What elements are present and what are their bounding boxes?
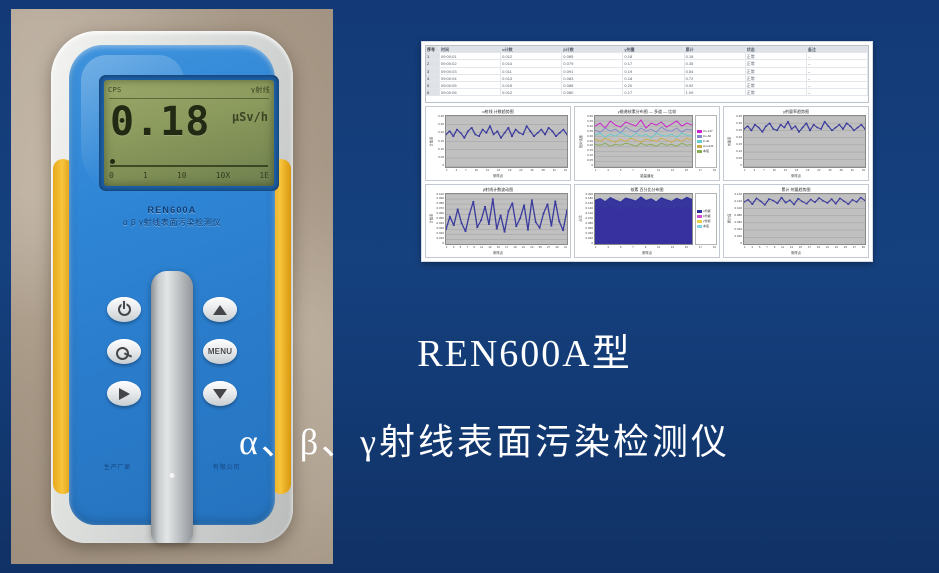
- table-cell: 0.012: [501, 53, 562, 59]
- table-cell: 09:00:05: [440, 82, 501, 88]
- chart-x-axis-label: 采样点: [428, 174, 568, 179]
- lcd-bezel: CPS γ射线 0.18 µSv/h 011010X1E: [99, 75, 279, 191]
- table-cell: 6: [426, 89, 440, 95]
- power-icon: [118, 303, 131, 316]
- chart-y-tick: 0.15: [736, 143, 742, 146]
- lcd-status-left: CPS: [108, 86, 122, 94]
- chart-x-axis-label: 采样点: [726, 174, 866, 179]
- table-cell: --: [807, 82, 868, 88]
- table-row[interactable]: 309:00:030.0110.0910.190.54正常--: [426, 68, 868, 75]
- chart-y-tick: 0.050: [436, 217, 444, 220]
- chart-y-tick: 0: [740, 164, 742, 167]
- chart-legend-swatch: [697, 220, 702, 223]
- chart-legend-label: Co-60: [703, 134, 711, 138]
- table-header-cell: γ剂量: [623, 46, 684, 52]
- chart-legend-swatch: [697, 210, 702, 213]
- chart-y-ticks: 0.1000.0900.0800.0700.0600.0500.0400.030…: [434, 193, 445, 246]
- chart-legend-item: 本底: [697, 149, 715, 153]
- chart-y-tick: 0.35: [736, 115, 742, 118]
- chart-y-tick: 0.090: [436, 197, 444, 200]
- lcd-scale-tick: 10X: [216, 171, 230, 184]
- chart-y-axis-label-text: 相对强度: [578, 135, 583, 148]
- table-cell: --: [807, 89, 868, 95]
- chart-card[interactable]: 累计 剂量趋势图累计值0.1400.1200.1000.0800.0600.04…: [723, 184, 869, 259]
- table-cell: 0.17: [623, 60, 684, 66]
- table-cell: 正常: [746, 68, 807, 74]
- table-cell: 0.54: [685, 68, 746, 74]
- table-cell: 0.72: [685, 75, 746, 81]
- power-button[interactable]: [107, 297, 141, 322]
- chart-y-tick: 0.45: [587, 120, 593, 123]
- chart-y-tick: 0.15: [438, 140, 444, 143]
- table-header-cell: α计数: [501, 46, 562, 52]
- chart-legend-label: α份额: [703, 209, 711, 213]
- table-cell: 0.012: [501, 89, 562, 95]
- chart-body: 相对强度0.500.450.400.350.300.250.200.150.10…: [577, 115, 717, 168]
- chart-y-tick: 0.25: [587, 140, 593, 143]
- chart-y-tick: 0.140: [585, 207, 593, 210]
- lcd-screen: CPS γ射线 0.18 µSv/h 011010X1E: [104, 80, 274, 186]
- table-cell: 0.085: [562, 53, 623, 59]
- chart-legend-swatch: [697, 215, 702, 218]
- chart-y-tick: 0.100: [734, 207, 742, 210]
- table-header-cell: β计数: [562, 46, 623, 52]
- chart-legend-swatch: [697, 150, 702, 153]
- table-cell: 0.088: [562, 82, 623, 88]
- table-cell: 09:00:01: [440, 53, 501, 59]
- table-cell: 0.18: [623, 53, 684, 59]
- software-screenshot: 序号时间α计数β计数γ剂量累计状态备注109:00:010.0120.0850.…: [421, 41, 873, 262]
- table-cell: 09:00:06: [440, 89, 501, 95]
- chart-y-tick: 0.10: [587, 154, 593, 157]
- chart-plot-area: [743, 115, 866, 168]
- chart-body: 累计值0.1400.1200.1000.0800.0600.0400.0200: [726, 193, 866, 246]
- table-cell: 0.015: [501, 82, 562, 88]
- table-cell: --: [807, 68, 868, 74]
- chart-legend-label: Am-241: [703, 144, 714, 148]
- chart-legend-swatch: [697, 145, 702, 148]
- table-cell: 0.080: [562, 89, 623, 95]
- table-cell: 0.35: [685, 60, 746, 66]
- lcd-scale-tick: 1E: [259, 171, 269, 184]
- chart-legend: Cs-137Co-60K-40Am-241本底: [695, 115, 717, 168]
- table-cell: 正常: [746, 53, 807, 59]
- presentation-slide: CPS γ射线 0.18 µSv/h 011010X1E REN600A α β…: [0, 0, 939, 573]
- chart-y-tick: 0.080: [436, 202, 444, 205]
- table-cell: 0.18: [623, 75, 684, 81]
- table-cell: 2: [426, 60, 440, 66]
- chart-y-tick: 0.200: [585, 193, 593, 196]
- chart-y-tick: 0.140: [734, 193, 742, 196]
- chart-legend-swatch: [697, 135, 702, 138]
- lcd-value: 0.18: [110, 102, 210, 142]
- table-cell: 0.19: [623, 68, 684, 74]
- chart-y-tick: 0.15: [587, 149, 593, 152]
- chart-legend-label: Cs-137: [703, 129, 713, 133]
- table-row[interactable]: 509:00:050.0150.0880.200.92正常--: [426, 82, 868, 89]
- chart-y-axis-label-text: 计数率: [429, 214, 434, 224]
- table-cell: 0.091: [562, 68, 623, 74]
- table-row[interactable]: 609:00:060.0120.0800.171.09正常--: [426, 89, 868, 96]
- chart-x-axis-label: 能量道址: [577, 174, 717, 179]
- chart-y-ticks: 0.1400.1200.1000.0800.0600.0400.0200: [732, 193, 743, 246]
- table-cell: --: [807, 75, 868, 81]
- chart-y-tick: 0.020: [436, 232, 444, 235]
- chart-x-axis-label: 采样点: [726, 251, 866, 256]
- chart-y-axis-label-text: 计数率: [429, 136, 434, 146]
- chart-legend-item: β份额: [697, 214, 715, 218]
- chart-y-axis-label-text: 剂量率: [727, 136, 732, 146]
- table-row[interactable]: 409:00:040.0130.0830.180.72正常--: [426, 75, 868, 82]
- chart-legend-swatch: [697, 140, 702, 143]
- table-cell: 09:00:02: [440, 60, 501, 66]
- table-header-cell: 累计: [685, 46, 746, 52]
- page-title: REN600A型: [0, 331, 939, 377]
- table-header-cell: 序号: [426, 46, 440, 52]
- chart-y-axis-label-text: 占比: [578, 216, 583, 222]
- lcd-status-right: γ射线: [251, 85, 270, 95]
- chart-y-tick: 0.080: [734, 214, 742, 217]
- table-header-cell: 时间: [440, 46, 501, 52]
- chart-plot-area: [743, 193, 866, 246]
- lcd-bargraph-marker: [110, 159, 115, 164]
- chart-card[interactable]: 核素 百分比分布图占比0.2000.1800.1600.1400.1200.10…: [574, 184, 720, 259]
- device-model-label: REN600A α β γ射线表面污染检测仪: [11, 205, 333, 228]
- chart-y-tick: 0.100: [436, 193, 444, 196]
- chart-legend-label: 本底: [703, 149, 709, 153]
- chart-legend-label: β份额: [703, 214, 711, 218]
- chart-y-tick: 0: [442, 164, 444, 167]
- lcd-status-bar: CPS γ射线: [108, 82, 270, 97]
- chart-y-tick: 0.20: [736, 136, 742, 139]
- chart-y-tick: 0: [591, 164, 593, 167]
- chart-legend-label: K-40: [703, 139, 709, 143]
- table-cell: --: [807, 53, 868, 59]
- chart-y-tick: 0.40: [587, 125, 593, 128]
- table-cell: 正常: [746, 89, 807, 95]
- chart-y-tick: 0.25: [438, 123, 444, 126]
- chart-y-tick: 0.100: [585, 217, 593, 220]
- play-icon: [119, 388, 130, 400]
- chart-card[interactable]: γ剂量率趋势图剂量率0.350.300.250.200.150.100.0501…: [723, 106, 869, 181]
- device-handle: [151, 271, 193, 543]
- table-cell: 5: [426, 82, 440, 88]
- chart-y-tick: 0.05: [587, 159, 593, 162]
- chart-y-tick: 0.040: [734, 228, 742, 231]
- chart-card[interactable]: α射线 计数趋势图计数率0.300.250.200.150.100.050147…: [425, 106, 571, 181]
- table-cell: 0.014: [501, 60, 562, 66]
- chart-y-tick: 0.120: [734, 200, 742, 203]
- chart-y-tick: 0.020: [734, 235, 742, 238]
- chart-y-ticks: 0.300.250.200.150.100.050: [434, 115, 445, 168]
- chart-y-tick: 0.040: [585, 232, 593, 235]
- chart-y-tick: 0.50: [587, 115, 593, 118]
- chart-legend-item: Am-241: [697, 144, 715, 148]
- chart-plot-area: [594, 115, 693, 168]
- chart-y-tick: 0.070: [436, 207, 444, 210]
- chart-y-tick: 0.060: [436, 212, 444, 215]
- chart-body: 占比0.2000.1800.1600.1400.1200.1000.0800.0…: [577, 193, 717, 246]
- chart-y-ticks: 0.2000.1800.1600.1400.1200.1000.0800.060…: [583, 193, 594, 246]
- lcd-scale-tick: 1: [143, 171, 148, 184]
- chart-y-ticks: 0.350.300.250.200.150.100.050: [732, 115, 743, 168]
- chart-y-tick: 0.010: [436, 237, 444, 240]
- chart-body: 剂量率0.350.300.250.200.150.100.050: [726, 115, 866, 168]
- chart-y-tick: 0.10: [438, 148, 444, 151]
- chart-body: 计数率0.300.250.200.150.100.050: [428, 115, 568, 168]
- table-cell: 0.20: [623, 82, 684, 88]
- up-button[interactable]: [203, 297, 237, 322]
- chart-y-tick: 0: [442, 242, 444, 245]
- chart-legend-label: γ份额: [703, 219, 711, 223]
- table-cell: 0.011: [501, 68, 562, 74]
- chart-y-axis-label-text: 累计值: [727, 214, 732, 224]
- chart-y-tick: 0.05: [438, 156, 444, 159]
- table-cell: 正常: [746, 75, 807, 81]
- chart-y-tick: 0.10: [736, 150, 742, 153]
- arrow-down-icon: [213, 389, 227, 399]
- chart-y-tick: 0: [591, 242, 593, 245]
- chart-y-tick: 0.05: [736, 157, 742, 160]
- chart-card[interactable]: β射线计数波动图计数率0.1000.0900.0800.0700.0600.05…: [425, 184, 571, 259]
- chart-legend-swatch: [697, 225, 702, 228]
- chart-legend-item: Cs-137: [697, 129, 715, 133]
- chart-y-tick: 0.060: [585, 227, 593, 230]
- table-cell: 0.079: [562, 60, 623, 66]
- chart-y-tick: 0.160: [585, 202, 593, 205]
- table-cell: 0.92: [685, 82, 746, 88]
- chart-y-tick: 0.060: [734, 221, 742, 224]
- chart-plot-area: [445, 193, 568, 246]
- table-row[interactable]: 209:00:020.0140.0790.170.35正常--: [426, 60, 868, 67]
- chart-y-tick: 0.20: [587, 144, 593, 147]
- product-photo: CPS γ射线 0.18 µSv/h 011010X1E REN600A α β…: [11, 9, 333, 564]
- chart-y-ticks: 0.500.450.400.350.300.250.200.150.100.05…: [583, 115, 594, 168]
- play-button[interactable]: [107, 381, 141, 406]
- chart-legend-item: α份额: [697, 209, 715, 213]
- table-cell: 0.18: [685, 53, 746, 59]
- chart-y-tick: 0.120: [585, 212, 593, 215]
- chart-x-axis-label: 采样点: [577, 251, 717, 256]
- table-cell: 正常: [746, 82, 807, 88]
- chart-y-tick: 0.20: [438, 131, 444, 134]
- chart-x-axis-label: 采样点: [428, 251, 568, 256]
- chart-y-tick: 0.020: [585, 237, 593, 240]
- chart-y-tick: 0.030: [436, 227, 444, 230]
- table-cell: 4: [426, 75, 440, 81]
- table-cell: 0.17: [623, 89, 684, 95]
- lcd-scale-tick: 0: [109, 171, 114, 184]
- chart-y-tick: 0.180: [585, 197, 593, 200]
- chart-y-tick: 0: [740, 242, 742, 245]
- lcd-unit: µSv/h: [232, 110, 268, 124]
- chart-card[interactable]: γ能谱核素分布图 — 多道 — 比较相对强度0.500.450.400.350.…: [574, 106, 720, 181]
- arrow-up-icon: [213, 305, 227, 315]
- chart-legend-item: K-40: [697, 139, 715, 143]
- chart-legend: α份额β份额γ份额本底: [695, 193, 717, 246]
- table-header-row[interactable]: 序号时间α计数β计数γ剂量累计状态备注: [426, 46, 868, 53]
- table-cell: 1.09: [685, 89, 746, 95]
- chart-y-tick: 0.25: [736, 129, 742, 132]
- page-subtitle: α、β、γ射线表面污染检测仪: [0, 415, 939, 469]
- table-cell: 09:00:03: [440, 68, 501, 74]
- chart-y-tick: 0.30: [736, 122, 742, 125]
- down-button[interactable]: [203, 381, 237, 406]
- chart-legend-swatch: [697, 130, 702, 133]
- chart-legend-item: 本底: [697, 224, 715, 228]
- table-cell: 1: [426, 53, 440, 59]
- table-cell: 0.083: [562, 75, 623, 81]
- device-chinese-text: α β γ射线表面污染检测仪: [11, 217, 333, 228]
- chart-legend-label: 本底: [703, 224, 709, 228]
- device-model-text: REN600A: [11, 205, 333, 215]
- chart-y-tick: 0.080: [585, 222, 593, 225]
- table-cell: 0.013: [501, 75, 562, 81]
- table-cell: 正常: [746, 60, 807, 66]
- data-table[interactable]: 序号时间α计数β计数γ剂量累计状态备注109:00:010.0120.0850.…: [425, 45, 869, 103]
- chart-y-tick: 0.35: [587, 130, 593, 133]
- chart-legend-item: γ份额: [697, 219, 715, 223]
- chart-y-tick: 0.040: [436, 222, 444, 225]
- chart-plot-area: [594, 193, 693, 246]
- table-row[interactable]: 109:00:010.0120.0850.180.18正常--: [426, 53, 868, 60]
- table-header-cell: 状态: [746, 46, 807, 52]
- handle-screw: [170, 473, 175, 478]
- chart-plot-area: [445, 115, 568, 168]
- table-cell: --: [807, 60, 868, 66]
- lcd-scale: 011010X1E: [109, 171, 269, 184]
- table-cell: 3: [426, 68, 440, 74]
- chart-grid: α射线 计数趋势图计数率0.300.250.200.150.100.050147…: [425, 106, 869, 258]
- chart-legend-item: Co-60: [697, 134, 715, 138]
- chart-y-tick: 0.30: [438, 115, 444, 118]
- lcd-scale-tick: 10: [177, 171, 187, 184]
- lcd-bargraph: [110, 161, 268, 167]
- table-header-cell: 备注: [807, 46, 868, 52]
- chart-y-tick: 0.30: [587, 135, 593, 138]
- table-cell: 09:00:04: [440, 75, 501, 81]
- chart-body: 计数率0.1000.0900.0800.0700.0600.0500.0400.…: [428, 193, 568, 246]
